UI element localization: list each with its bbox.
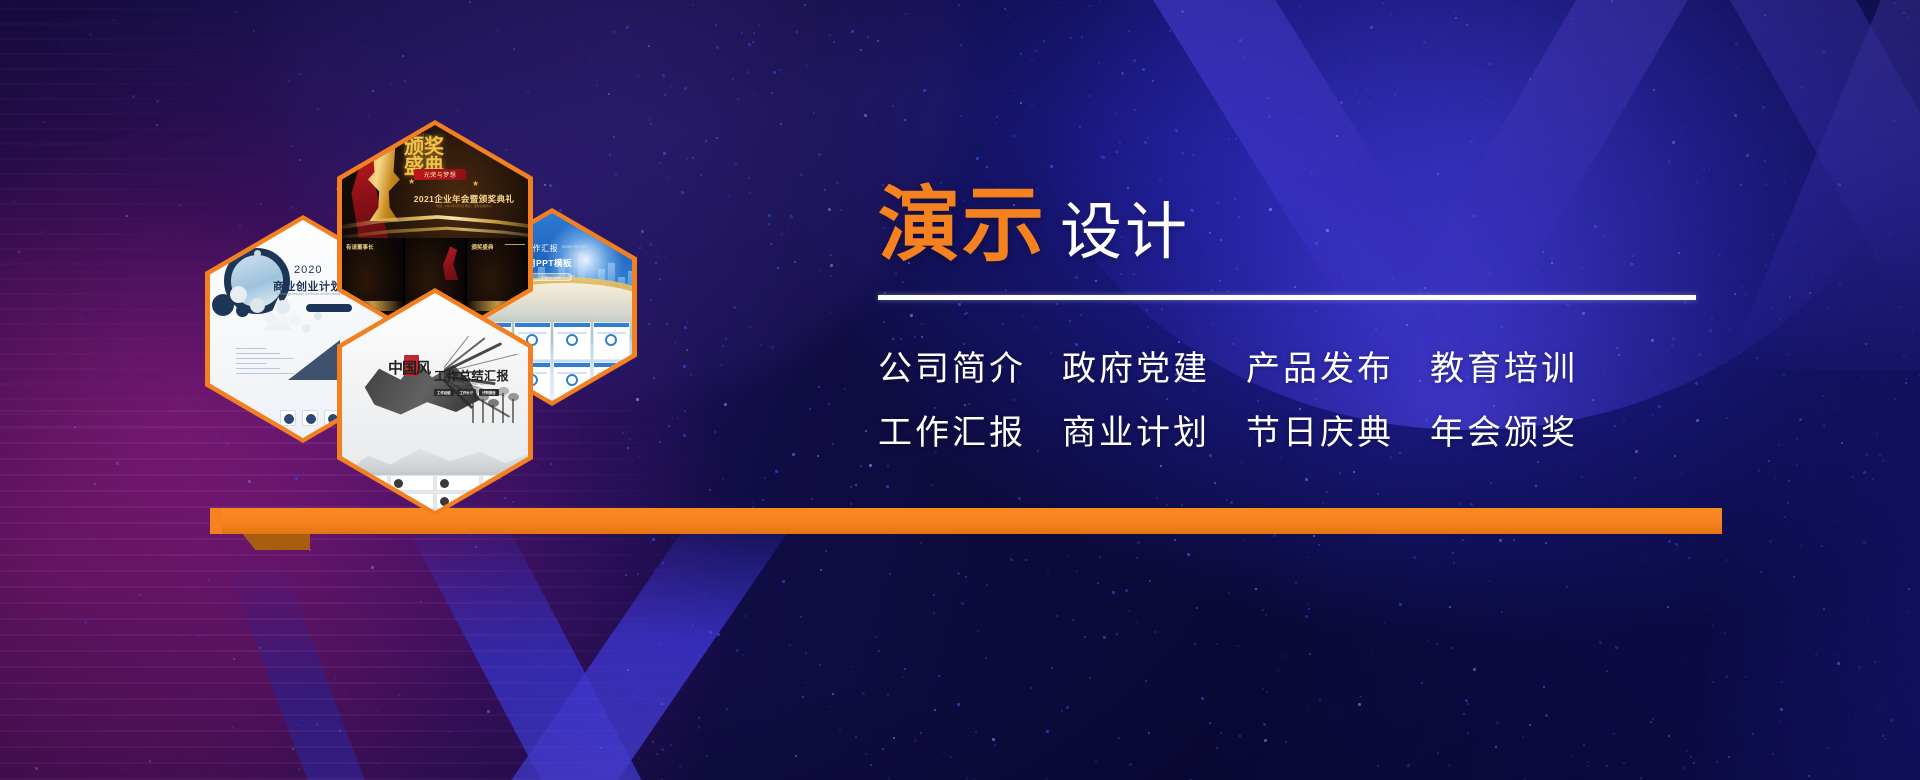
tag-product-launch[interactable]: 产品发布 xyxy=(1246,352,1394,386)
award-hono-label: HONO xyxy=(480,139,508,148)
biz-year-label: 2020 xyxy=(294,264,322,276)
ink-slide-grid xyxy=(342,475,528,511)
tag-work-report[interactable]: 工作汇报 xyxy=(878,416,1026,450)
award-cell-label: 有请董事长 xyxy=(346,243,374,251)
award-title-line1: 颁奖 xyxy=(404,136,444,158)
tag-annual-award[interactable]: 年会颁奖 xyxy=(1430,416,1578,450)
tag-government-party[interactable]: 政府党建 xyxy=(1062,352,1210,386)
ink-mountain-graphic xyxy=(342,435,528,475)
annual-title-en-label: WORK REPORT xyxy=(562,245,588,249)
orange-accent-bar xyxy=(222,508,1722,534)
thumbnail-cluster: 年度 工作汇报 WORK REPORT 通用PPT模板 汇报人：XXX 2020… xyxy=(0,0,720,560)
tag-list: 公司简介 政府党建 产品发布 教育培训 工作汇报 商业计划 节日庆典 年会颁奖 xyxy=(878,352,1738,450)
banner-canvas: 年度 工作汇报 WORK REPORT 通用PPT模板 汇报人：XXX 2020… xyxy=(0,0,1920,780)
ink-mark-label: 中国风 xyxy=(388,363,430,375)
star-icon: ★ xyxy=(470,133,477,142)
triangle-decoration xyxy=(288,340,340,380)
award-badge-label: 光荣与梦想 xyxy=(414,169,466,180)
page-title-main: 演示 xyxy=(878,185,1046,267)
title-divider xyxy=(878,295,1696,300)
tag-row-2: 工作汇报 商业计划 节日庆典 年会颁奖 xyxy=(878,416,1738,450)
lotus-icon xyxy=(466,367,524,427)
tag-education-training[interactable]: 教育培训 xyxy=(1430,352,1578,386)
tag-business-plan[interactable]: 商业计划 xyxy=(1062,416,1210,450)
award-hero-area: 颁奖 盛典 HONO ★ ★ ★ 光荣与梦想 2021企业年会暨颁奖典礼 时间：… xyxy=(342,125,528,238)
title-row: 演示 设计 xyxy=(878,185,1738,267)
tag-row-1: 公司简介 政府党建 产品发布 教育培训 xyxy=(878,352,1738,386)
award-title-label: 颁奖 盛典 xyxy=(404,137,524,189)
copy-block: 演示 设计 公司简介 政府党建 产品发布 教育培训 工作汇报 商业计划 节日庆典… xyxy=(878,185,1738,480)
tag-company-intro[interactable]: 公司简介 xyxy=(878,352,1026,386)
ink-tag: 工作总结 xyxy=(434,389,454,396)
gold-rule xyxy=(505,244,525,245)
red-ribbon-graphic xyxy=(441,246,463,280)
biz-presenter-pill xyxy=(306,304,352,312)
tag-festival[interactable]: 节日庆典 xyxy=(1246,416,1394,450)
page-title-sub: 设计 xyxy=(1060,202,1190,264)
award-subsubtitle-label: 时间：2021年1月1日 地点：国际会展中心 xyxy=(404,204,524,208)
award-cell-label: 颁奖盛典 xyxy=(471,243,493,251)
star-icon: ★ xyxy=(472,179,479,188)
annual-presenter-pill: 汇报人：XXX xyxy=(530,273,572,281)
